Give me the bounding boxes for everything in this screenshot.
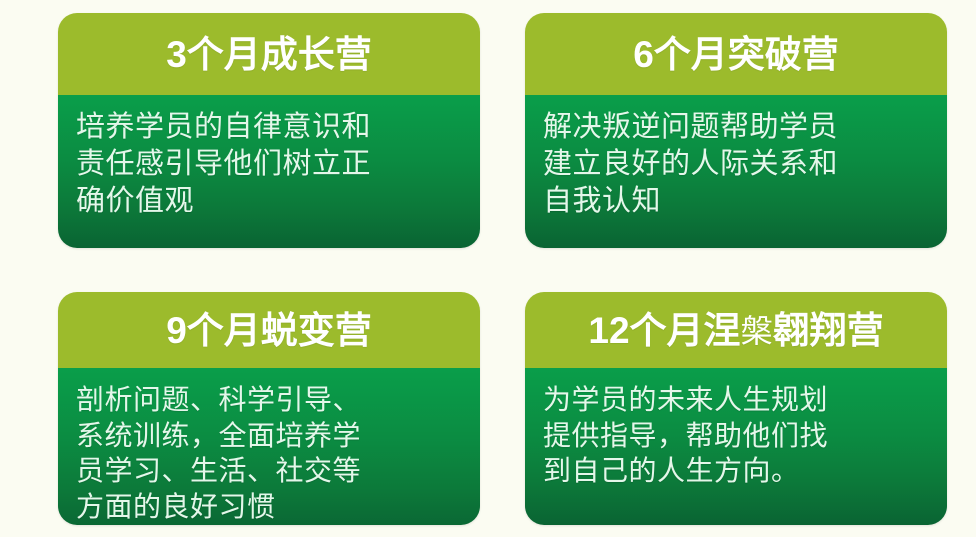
card-body-9-month: 剖析问题、科学引导、 系统训练，全面培养学 员学习、生活、社交等 方面的良好习惯 (58, 368, 480, 525)
card-title-9-month: 9个月蜕变营 (166, 312, 372, 349)
card-description-9-month: 剖析问题、科学引导、 系统训练，全面培养学 员学习、生活、社交等 方面的良好习惯 (76, 382, 464, 524)
card-body-6-month: 解决叛逆问题帮助学员 建立良好的人际关系和 自我认知 (525, 95, 947, 248)
card-description-12-month: 为学员的未来人生规划 提供指导，帮助他们找 到自己的人生方向。 (543, 382, 931, 489)
card-header-9-month: 9个月蜕变营 (58, 292, 480, 368)
program-card-12-month[interactable]: 12个月涅槃翱翔营 为学员的未来人生规划 提供指导，帮助他们找 到自己的人生方向… (525, 292, 947, 525)
program-card-3-month[interactable]: 3个月成长营 培养学员的自律意识和 责任感引导他们树立正 确价值观 (58, 13, 480, 248)
card-header-3-month: 3个月成长营 (58, 13, 480, 95)
card-body-12-month: 为学员的未来人生规划 提供指导，帮助他们找 到自己的人生方向。 (525, 368, 947, 525)
card-title-6-month: 6个月突破营 (633, 36, 839, 73)
card-title-12-month-part-a: 12个月涅 (588, 310, 740, 351)
card-title-12-month-part-b: 翱翔营 (773, 310, 884, 351)
card-title-3-month: 3个月成长营 (166, 36, 372, 73)
program-card-9-month[interactable]: 9个月蜕变营 剖析问题、科学引导、 系统训练，全面培养学 员学习、生活、社交等 … (58, 292, 480, 525)
program-card-grid: 3个月成长营 培养学员的自律意识和 责任感引导他们树立正 确价值观 6个月突破营… (0, 0, 976, 537)
card-header-6-month: 6个月突破营 (525, 13, 947, 95)
program-card-6-month[interactable]: 6个月突破营 解决叛逆问题帮助学员 建立良好的人际关系和 自我认知 (525, 13, 947, 248)
card-description-6-month: 解决叛逆问题帮助学员 建立良好的人际关系和 自我认知 (543, 109, 931, 220)
card-title-12-month-alt-glyph: 槃 (741, 312, 773, 350)
card-description-3-month: 培养学员的自律意识和 责任感引导他们树立正 确价值观 (76, 109, 464, 220)
card-header-12-month: 12个月涅槃翱翔营 (525, 292, 947, 368)
card-body-3-month: 培养学员的自律意识和 责任感引导他们树立正 确价值观 (58, 95, 480, 248)
card-title-12-month: 12个月涅槃翱翔营 (588, 312, 883, 349)
